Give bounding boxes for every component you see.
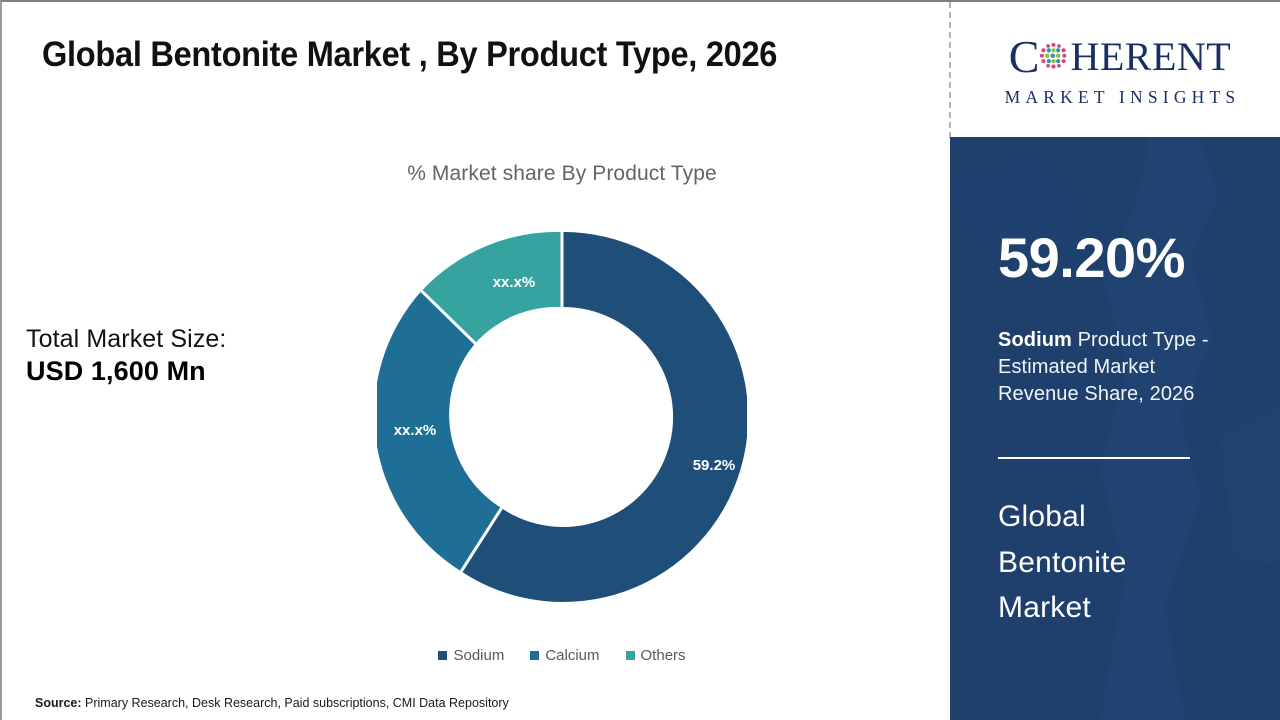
stat-description-bold: Sodium [998, 329, 1072, 351]
brand-logo: C [958, 4, 1280, 137]
panel-brand-line-3: Market [998, 585, 1248, 631]
source-note: Source: Primary Research, Desk Research,… [35, 696, 509, 710]
legend-item-others[interactable]: Others [626, 647, 686, 664]
panel-brand-title: Global Bentonite Market [998, 494, 1248, 631]
total-market-size: Total Market Size: USD 1,600 Mn [26, 324, 326, 387]
source-label: Source: [35, 696, 82, 710]
donut-label-others: xx.x% [493, 274, 536, 291]
legend-label-sodium: Sodium [453, 647, 504, 664]
chart-subtitle: % Market share By Product Type [262, 162, 862, 186]
donut-label-sodium: 59.2% [693, 457, 736, 474]
infographic-slide: Global Bentonite Market , By Product Typ… [0, 0, 1280, 720]
legend-item-sodium[interactable]: Sodium [438, 647, 504, 664]
logo-tagline: MARKET INSIGHTS [1000, 87, 1241, 108]
logo-wordmark: C [1009, 34, 1231, 80]
legend-swatch-sodium [438, 651, 447, 660]
logo-letter-c: C [1009, 34, 1040, 80]
globe-dots-icon [1038, 41, 1069, 72]
logo-wordmark-rest: HERENT [1070, 37, 1231, 77]
legend-item-calcium[interactable]: Calcium [530, 647, 599, 664]
chart-legend: Sodium Calcium Others [302, 647, 822, 664]
panel-brand-line-2: Bentonite [998, 540, 1248, 586]
panel-brand-line-1: Global [998, 494, 1248, 540]
legend-label-calcium: Calcium [545, 647, 599, 664]
source-text: Primary Research, Desk Research, Paid su… [82, 696, 509, 710]
donut-chart-svg: 59.2% xx.x% xx.x% [377, 232, 747, 602]
market-size-value: USD 1,600 Mn [26, 355, 326, 388]
stat-description: Sodium Product Type - Estimated Market R… [998, 327, 1238, 408]
donut-chart: 59.2% xx.x% xx.x% [377, 232, 747, 602]
legend-swatch-others [626, 651, 635, 660]
stat-percentage: 59.20% [998, 230, 1185, 286]
highlight-panel: 59.20% Sodium Product Type - Estimated M… [950, 137, 1280, 720]
vertical-dashed-divider [949, 2, 951, 138]
legend-label-others: Others [641, 647, 686, 664]
donut-label-calcium: xx.x% [394, 422, 437, 439]
world-map-texture [950, 137, 1280, 720]
legend-swatch-calcium [530, 651, 539, 660]
panel-divider-rule [998, 457, 1190, 459]
market-size-label: Total Market Size: [26, 324, 326, 355]
page-title: Global Bentonite Market , By Product Typ… [42, 35, 870, 75]
